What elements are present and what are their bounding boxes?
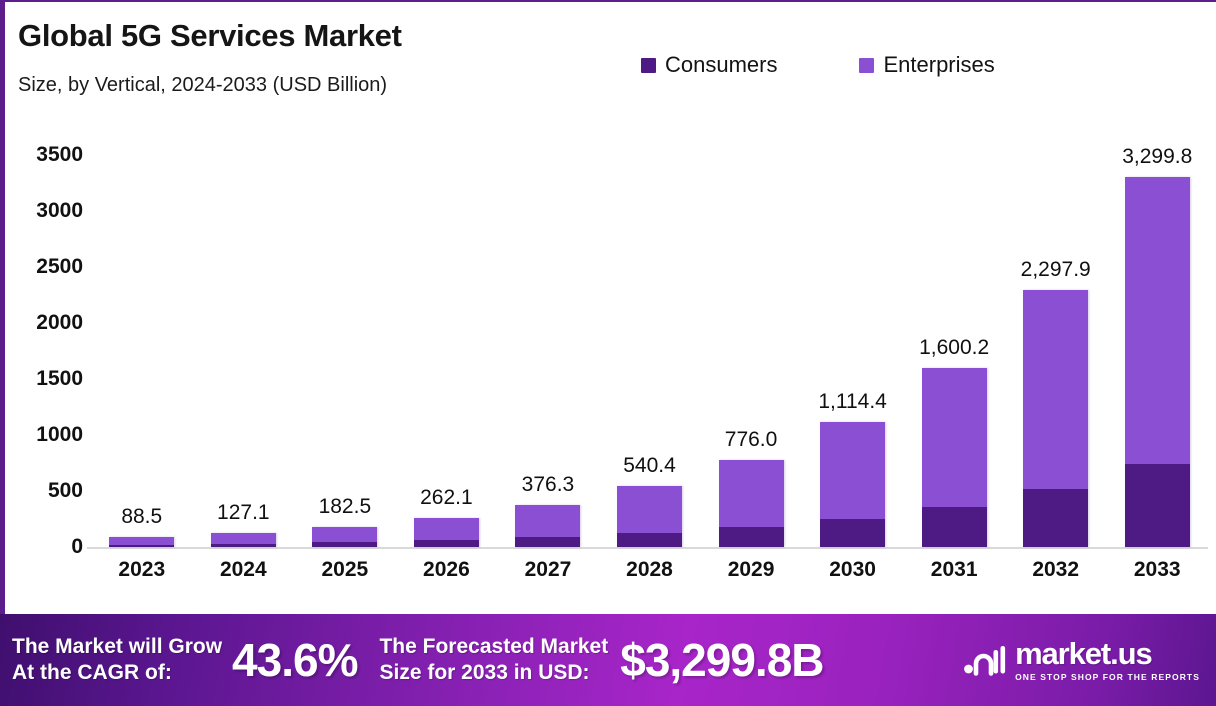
y-axis-tick-2500: 2500 <box>36 255 83 279</box>
forecast-size-label-line2: Size for 2033 in USD: <box>379 660 608 686</box>
square-swatch-icon <box>641 58 656 73</box>
bar-stack-2031[interactable] <box>922 368 987 547</box>
legend-label-enterprises: Enterprises <box>883 52 994 78</box>
bar-value-label-2030: 1,114.4 <box>802 390 904 414</box>
x-axis-tick-2032: 2032 <box>1005 558 1107 582</box>
bar-segment-consumers-2030[interactable] <box>820 519 885 547</box>
x-axis-tick-2027: 2027 <box>497 558 599 582</box>
page-title: Global 5G Services Market <box>18 18 402 54</box>
cagr-block: The Market will Grow At the CAGR of: 43.… <box>12 633 357 687</box>
logo-wordmark: market.us <box>1015 638 1200 669</box>
bar-segment-consumers-2026[interactable] <box>414 540 479 547</box>
y-axis-tick-3500: 3500 <box>36 143 83 167</box>
y-axis-tick-2000: 2000 <box>36 311 83 335</box>
logo-text-block: market.us ONE STOP SHOP FOR THE REPORTS <box>1015 638 1200 682</box>
bar-column-2029[interactable]: 776.0 <box>700 110 802 547</box>
bar-value-label-2024: 127.1 <box>193 501 295 525</box>
y-axis-tick-1000: 1000 <box>36 423 83 447</box>
chart-legend: Consumers Enterprises <box>641 52 995 78</box>
y-axis: 3500300025002000150010005000 <box>5 110 91 550</box>
bar-segment-enterprises-2033[interactable] <box>1125 177 1190 463</box>
bar-segment-consumers-2033[interactable] <box>1125 464 1190 547</box>
bar-segment-enterprises-2029[interactable] <box>719 460 784 527</box>
market-us-logo-icon <box>963 643 1007 677</box>
bar-segment-consumers-2025[interactable] <box>312 542 377 547</box>
bar-group: 88.5127.1182.5262.1376.3540.4776.01,114.… <box>91 110 1208 547</box>
bar-segment-enterprises-2025[interactable] <box>312 527 377 543</box>
bar-column-2023[interactable]: 88.5 <box>91 110 193 547</box>
cagr-label-line2: At the CAGR of: <box>12 660 222 686</box>
bar-segment-consumers-2032[interactable] <box>1023 489 1088 547</box>
cagr-label: The Market will Grow At the CAGR of: <box>12 634 222 686</box>
cagr-label-line1: The Market will Grow <box>12 634 222 660</box>
bar-stack-2025[interactable] <box>312 527 377 547</box>
chart-infographic: Global 5G Services Market Size, by Verti… <box>0 0 1216 706</box>
square-swatch-icon <box>859 58 874 73</box>
bar-segment-enterprises-2027[interactable] <box>515 505 580 538</box>
x-axis-tick-2028: 2028 <box>599 558 701 582</box>
footer-banner: The Market will Grow At the CAGR of: 43.… <box>0 614 1216 706</box>
x-axis-tick-2025: 2025 <box>294 558 396 582</box>
bar-stack-2028[interactable] <box>617 486 682 547</box>
bar-value-label-2023: 88.5 <box>91 505 193 529</box>
bar-column-2026[interactable]: 262.1 <box>396 110 498 547</box>
bar-segment-enterprises-2028[interactable] <box>617 486 682 533</box>
forecast-size-block: The Forecasted Market Size for 2033 in U… <box>379 633 823 687</box>
x-axis-tick-2024: 2024 <box>193 558 295 582</box>
bar-segment-consumers-2024[interactable] <box>211 544 276 547</box>
bar-stack-2024[interactable] <box>211 533 276 547</box>
bar-value-label-2032: 2,297.9 <box>1005 258 1107 282</box>
forecast-size-label: The Forecasted Market Size for 2033 in U… <box>379 634 608 686</box>
x-axis-baseline <box>87 547 1208 549</box>
cagr-value: 43.6% <box>232 633 357 687</box>
bar-stack-2026[interactable] <box>414 518 479 547</box>
bar-stack-2032[interactable] <box>1023 290 1088 547</box>
x-axis-tick-2030: 2030 <box>802 558 904 582</box>
bar-stack-2027[interactable] <box>515 505 580 547</box>
brand-logo[interactable]: market.us ONE STOP SHOP FOR THE REPORTS <box>963 638 1200 682</box>
x-axis-tick-2029: 2029 <box>700 558 802 582</box>
bar-stack-2033[interactable] <box>1125 177 1190 547</box>
x-axis-tick-2023: 2023 <box>91 558 193 582</box>
bar-segment-consumers-2027[interactable] <box>515 537 580 547</box>
bar-column-2032[interactable]: 2,297.9 <box>1005 110 1107 547</box>
x-axis-tick-2026: 2026 <box>396 558 498 582</box>
legend-label-consumers: Consumers <box>665 52 777 78</box>
bar-segment-consumers-2023[interactable] <box>109 545 174 547</box>
bar-stack-2023[interactable] <box>109 537 174 547</box>
chart-plot-area: 3500300025002000150010005000 88.5127.118… <box>5 110 1216 614</box>
bar-value-label-2027: 376.3 <box>497 473 599 497</box>
bar-stack-2030[interactable] <box>820 422 885 547</box>
bar-value-label-2026: 262.1 <box>396 486 498 510</box>
y-axis-tick-0: 0 <box>71 535 83 559</box>
legend-item-consumers[interactable]: Consumers <box>641 52 777 78</box>
x-axis-tick-2031: 2031 <box>903 558 1005 582</box>
bar-segment-enterprises-2032[interactable] <box>1023 290 1088 489</box>
bar-segment-enterprises-2031[interactable] <box>922 368 987 507</box>
x-axis-tick-2033: 2033 <box>1106 558 1208 582</box>
forecast-size-value: $3,299.8B <box>620 633 823 687</box>
bar-column-2033[interactable]: 3,299.8 <box>1106 110 1208 547</box>
bar-column-2028[interactable]: 540.4 <box>599 110 701 547</box>
y-axis-tick-1500: 1500 <box>36 367 83 391</box>
bar-value-label-2031: 1,600.2 <box>903 336 1005 360</box>
bar-segment-enterprises-2023[interactable] <box>109 537 174 545</box>
bar-segment-consumers-2031[interactable] <box>922 507 987 547</box>
y-axis-tick-500: 500 <box>48 479 83 503</box>
y-axis-tick-3000: 3000 <box>36 199 83 223</box>
bar-column-2027[interactable]: 376.3 <box>497 110 599 547</box>
bar-column-2031[interactable]: 1,600.2 <box>903 110 1005 547</box>
bar-column-2030[interactable]: 1,114.4 <box>802 110 904 547</box>
bar-segment-consumers-2029[interactable] <box>719 527 784 547</box>
bar-value-label-2028: 540.4 <box>599 454 701 478</box>
bar-segment-enterprises-2024[interactable] <box>211 533 276 544</box>
forecast-size-label-line1: The Forecasted Market <box>379 634 608 660</box>
bar-segment-enterprises-2030[interactable] <box>820 422 885 519</box>
bar-value-label-2033: 3,299.8 <box>1106 145 1208 169</box>
x-axis: 2023202420252026202720282029203020312032… <box>91 558 1208 582</box>
logo-tagline: ONE STOP SHOP FOR THE REPORTS <box>1015 672 1200 682</box>
bar-segment-enterprises-2026[interactable] <box>414 518 479 541</box>
bar-column-2025[interactable]: 182.5 <box>294 110 396 547</box>
bar-value-label-2025: 182.5 <box>294 495 396 519</box>
bar-segment-consumers-2028[interactable] <box>617 533 682 547</box>
bar-column-2024[interactable]: 127.1 <box>193 110 295 547</box>
chart-header: Global 5G Services Market Size, by Verti… <box>5 2 1216 110</box>
legend-item-enterprises[interactable]: Enterprises <box>859 52 994 78</box>
bar-value-label-2029: 776.0 <box>700 428 802 452</box>
page-subtitle: Size, by Vertical, 2024-2033 (USD Billio… <box>18 74 387 97</box>
bar-stack-2029[interactable] <box>719 460 784 547</box>
